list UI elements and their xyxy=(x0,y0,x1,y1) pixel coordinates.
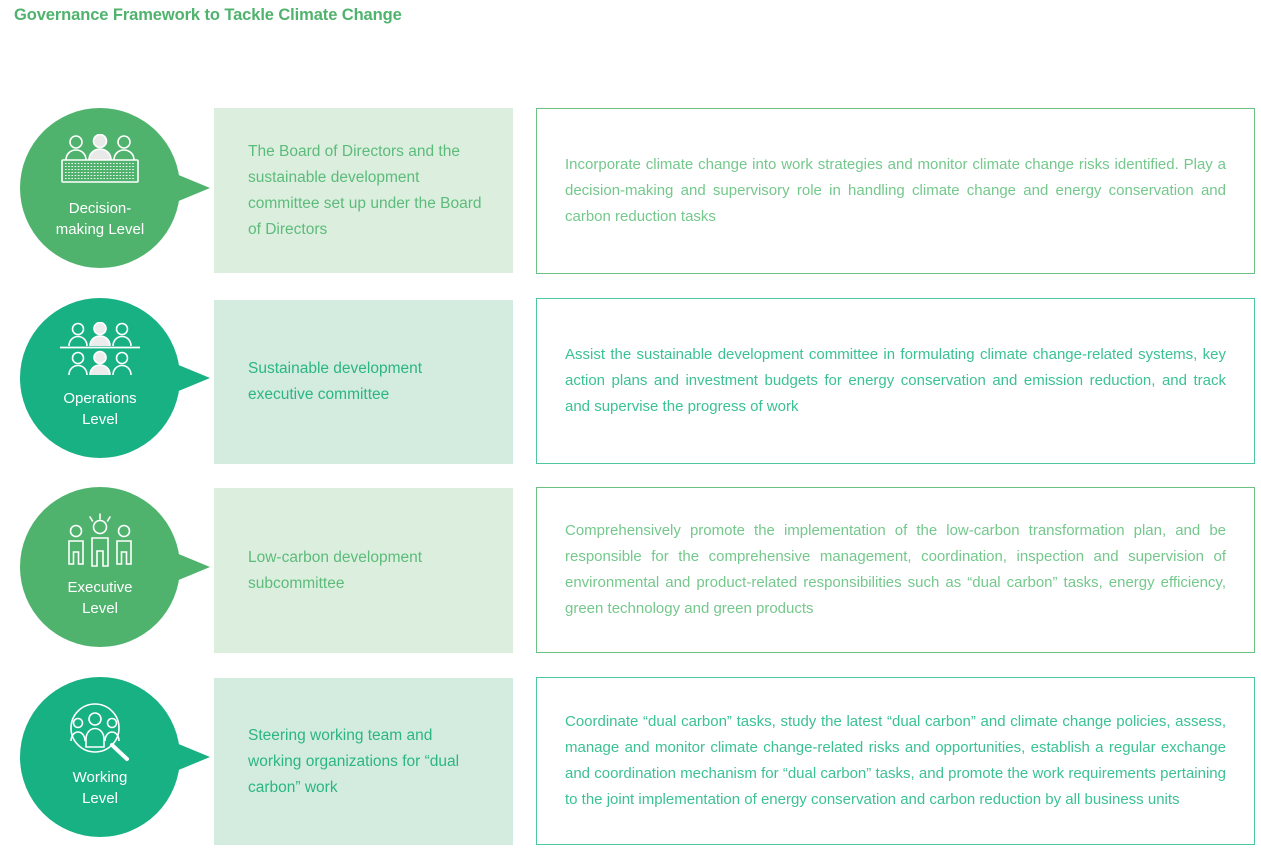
level-label: Operations Level xyxy=(20,388,180,430)
description-text: Comprehensively promote the implementati… xyxy=(537,518,1254,622)
level-label: Working Level xyxy=(20,767,180,809)
two-rows-of-people-icon xyxy=(20,322,180,384)
description-box: Coordinate “dual carbon” tasks, study th… xyxy=(536,677,1255,845)
body-panel: The Board of Directors and the sustainab… xyxy=(214,108,513,273)
body-text: Sustainable development executive commit… xyxy=(214,356,513,408)
three-people-leader-icon xyxy=(20,511,180,573)
description-box: Assist the sustainable development commi… xyxy=(536,298,1255,464)
people-at-table-icon xyxy=(20,132,180,194)
level-badge[interactable]: Executive Level xyxy=(20,487,180,647)
description-text: Incorporate climate change into work str… xyxy=(537,152,1254,230)
level-badge[interactable]: Working Level xyxy=(20,677,180,837)
description-box: Comprehensively promote the implementati… xyxy=(536,487,1255,653)
body-panel: Low-carbon development subcommittee xyxy=(214,488,513,653)
description-text: Assist the sustainable development commi… xyxy=(537,342,1254,420)
body-panel: Sustainable development executive commit… xyxy=(214,300,513,464)
level-label: Decision- making Level xyxy=(20,198,180,240)
body-text: The Board of Directors and the sustainab… xyxy=(214,139,513,243)
governance-framework-diagram: Decision- making LevelThe Board of Direc… xyxy=(0,0,1261,857)
description-text: Coordinate “dual carbon” tasks, study th… xyxy=(537,709,1254,813)
level-label: Executive Level xyxy=(20,577,180,619)
body-text: Low-carbon development subcommittee xyxy=(214,545,513,597)
level-badge[interactable]: Decision- making Level xyxy=(20,108,180,268)
body-panel: Steering working team and working organi… xyxy=(214,678,513,845)
magnifier-over-people-icon xyxy=(20,701,180,763)
body-text: Steering working team and working organi… xyxy=(214,723,513,801)
description-box: Incorporate climate change into work str… xyxy=(536,108,1255,274)
level-badge[interactable]: Operations Level xyxy=(20,298,180,458)
